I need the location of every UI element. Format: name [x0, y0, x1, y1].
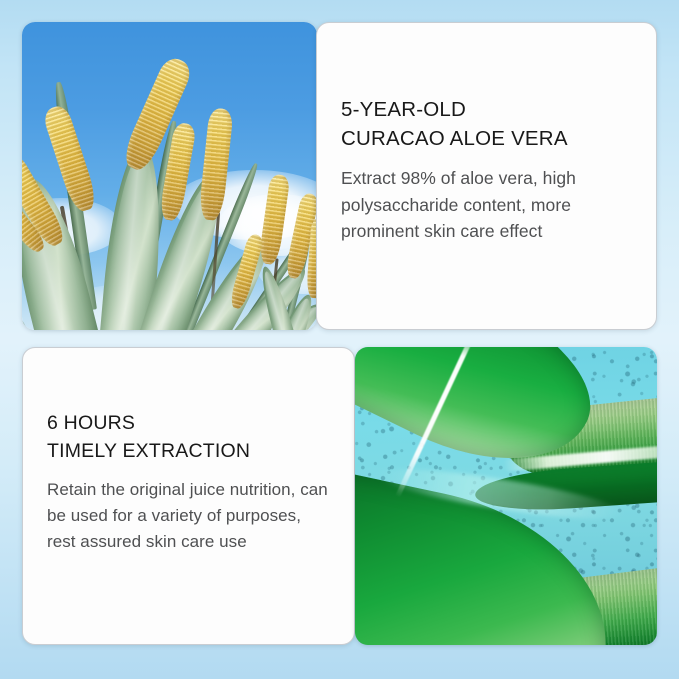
- aloe-info-body: Extract 98% of aloe vera, high polysacch…: [341, 165, 632, 245]
- extraction-info-content: 6 HOURS TIMELY EXTRACTION Retain the ori…: [23, 410, 354, 555]
- aloe-info-heading-line2: CURACAO ALOE VERA: [341, 124, 632, 153]
- aloe-plants-photo: [22, 22, 317, 330]
- product-feature-graphic: 5-YEAR-OLD CURACAO ALOE VERA Extract 98%…: [0, 0, 679, 679]
- extraction-info-body: Retain the original juice nutrition, can…: [47, 477, 330, 554]
- aloe-info-content: 5-YEAR-OLD CURACAO ALOE VERA Extract 98%…: [317, 95, 656, 245]
- extraction-info-heading-line1: 6 HOURS: [47, 410, 330, 438]
- aloe-gel-photo: [355, 347, 657, 645]
- aloe-info-card: 5-YEAR-OLD CURACAO ALOE VERA Extract 98%…: [316, 22, 657, 330]
- extraction-info-heading-line2: TIMELY EXTRACTION: [47, 438, 330, 466]
- extraction-info-card: 6 HOURS TIMELY EXTRACTION Retain the ori…: [22, 347, 355, 645]
- aloe-info-heading-line1: 5-YEAR-OLD: [341, 95, 632, 124]
